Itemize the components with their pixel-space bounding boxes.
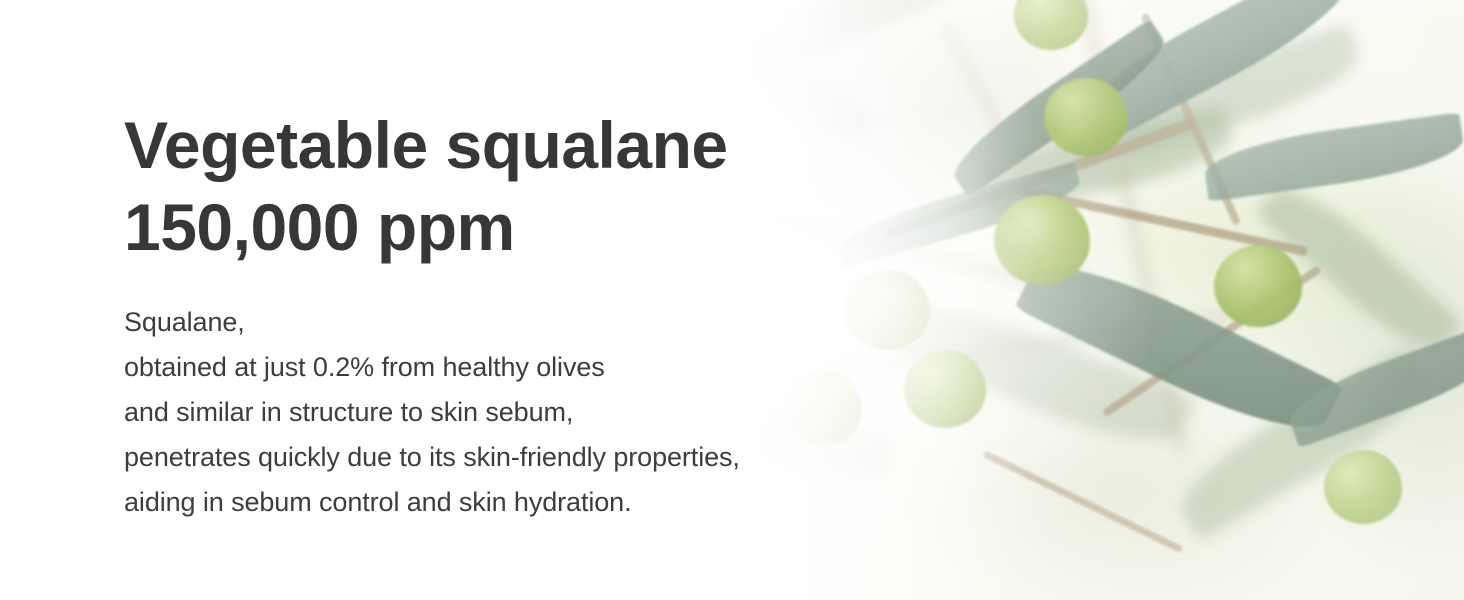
leaf-icon xyxy=(1202,112,1464,202)
olive-fruit-icon xyxy=(1214,245,1302,327)
olive-fruit-icon xyxy=(994,195,1090,285)
olive-fruit-icon xyxy=(1324,450,1402,524)
ingredient-description: Squalane, obtained at just 0.2% from hea… xyxy=(124,300,740,525)
olive-fruit-icon xyxy=(1044,78,1128,156)
olive-fruit-icon xyxy=(1014,0,1088,50)
page-title: Vegetable squalane 150,000 ppm xyxy=(124,104,728,268)
product-ingredient-banner: Vegetable squalane 150,000 ppm Squalane,… xyxy=(0,0,1464,600)
banner-copy: Vegetable squalane 150,000 ppm Squalane,… xyxy=(124,0,944,600)
branch-icon xyxy=(982,450,1183,553)
